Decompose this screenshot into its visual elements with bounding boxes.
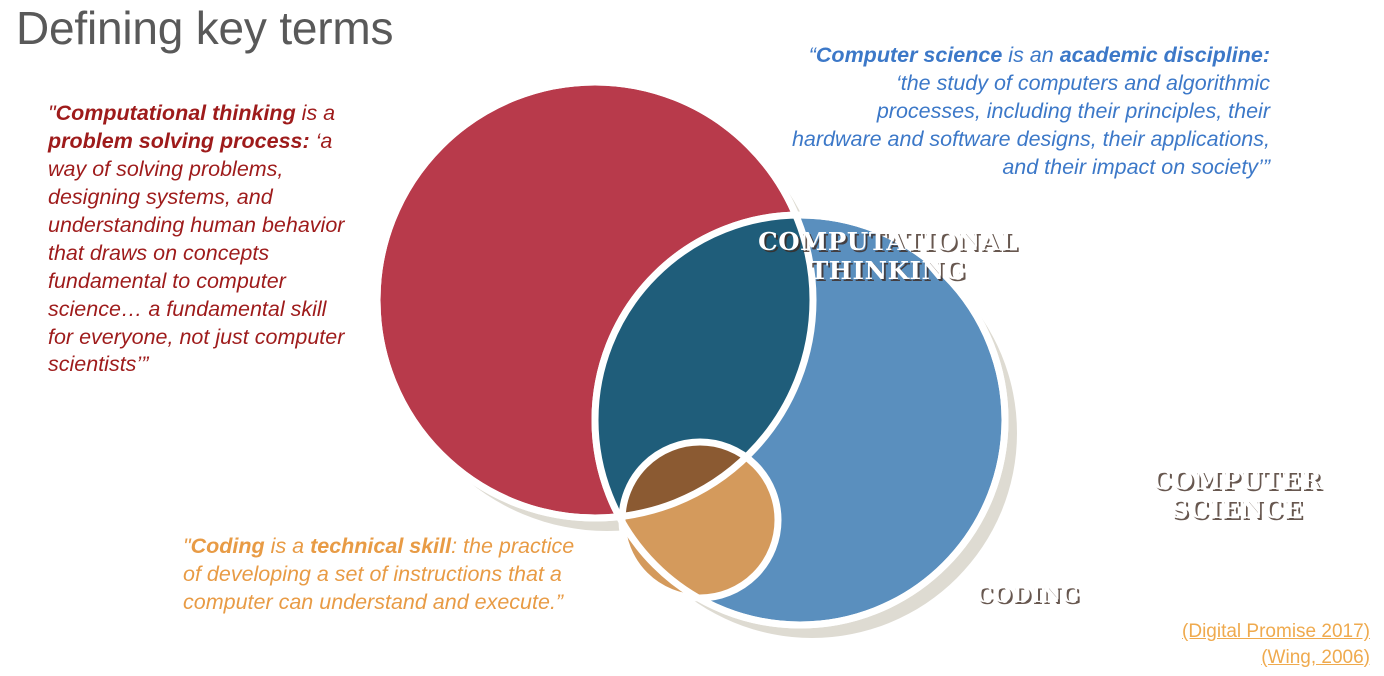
quote-body-cs: ‘the study of computers and algorithmic … <box>792 71 1270 179</box>
venn-label-computer-science: COMPUTER SCIENCE <box>1112 467 1362 525</box>
quote-definition-head-cs: academic discipline: <box>1060 43 1270 67</box>
citation-link-wing[interactable]: (Wing, 2006) <box>1182 645 1370 670</box>
quote-connector-coding: is a <box>265 534 310 558</box>
quote-term-computer-science: Computer science <box>816 43 1002 67</box>
quote-computational-thinking: "Computational thinking is a problem sol… <box>48 100 348 379</box>
citations: (Digital Promise 2017) (Wing, 2006) <box>1182 619 1370 670</box>
quote-open-quote-coding: " <box>183 534 191 558</box>
quote-computer-science: “Computer science is an academic discipl… <box>790 42 1270 182</box>
quote-term-coding: Coding <box>191 534 265 558</box>
slide-canvas: Defining key terms <box>0 0 1384 676</box>
quote-connector-cs: is an <box>1002 43 1059 67</box>
page-title: Defining key terms <box>16 0 393 58</box>
quote-open-quote-ct: " <box>48 101 56 125</box>
quote-connector-ct: is a <box>296 101 335 125</box>
quote-coding: "Coding is a technical skill: the practi… <box>183 533 593 617</box>
citation-link-digital-promise[interactable]: (Digital Promise 2017) <box>1182 619 1370 644</box>
quote-body-ct: ‘a way of solving problems, designing sy… <box>48 129 344 377</box>
quote-term-computational-thinking: Computational thinking <box>56 101 296 125</box>
quote-open-quote-cs: “ <box>809 43 816 67</box>
quote-definition-head-coding: technical skill <box>310 534 451 558</box>
quote-definition-head-ct: problem solving process: <box>48 129 310 153</box>
